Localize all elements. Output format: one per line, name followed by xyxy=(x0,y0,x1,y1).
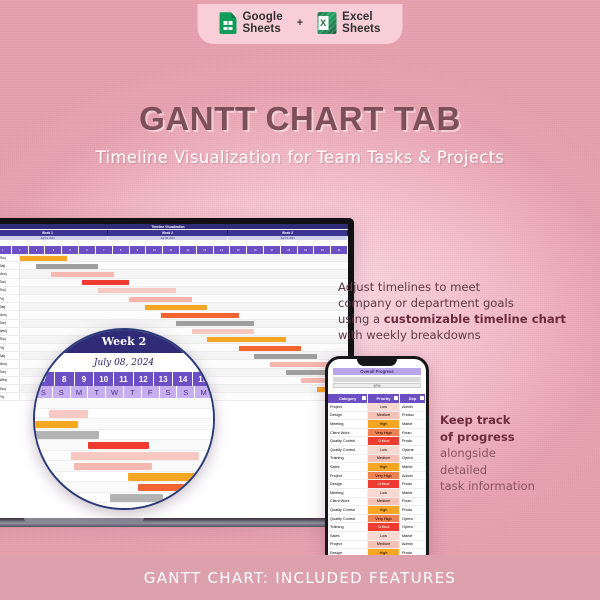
gantt-bar xyxy=(20,256,67,261)
phone-body: Overall Progress 67% CategoryPriorityDep… xyxy=(325,356,429,568)
magnifier-day-letters: SSMTWTFSSM xyxy=(35,386,213,398)
bottom-banner: GANTT CHART: INCLUDED FEATURES xyxy=(0,555,600,600)
phone-cell-priority: High xyxy=(368,506,400,514)
magnifier-date-label: July 08, 2024 xyxy=(35,353,213,372)
phone-cell-department: Finan xyxy=(400,429,426,437)
phone-table-row[interactable]: MeetingHighMarke xyxy=(328,420,426,429)
cell-task-due-date: 20/07/2024 (Sat) xyxy=(0,352,20,359)
callout-bold-phrase: customizable timeline chart xyxy=(384,312,566,326)
laptop-base xyxy=(0,518,367,527)
phone-table-row[interactable]: ProjectLowAdmin xyxy=(328,403,426,412)
table-row[interactable]: MediumOperationsOverdue40%09/07/2024 (Tu… xyxy=(0,303,348,311)
phone-cell-category: Sales xyxy=(328,463,368,471)
magnifier-gantt-bar xyxy=(71,452,199,460)
phone-table-row[interactable]: TrainingCriticalOpera xyxy=(328,523,426,532)
phone-cell-category: Sales xyxy=(328,532,368,540)
cell-task-due-date: 04/07/2024 (Thu) xyxy=(0,254,20,261)
phone-cell-priority: Low xyxy=(368,489,400,497)
cell-task-due-date: 23/07/2024 (Tue) xyxy=(0,369,20,376)
magnifier-day-letter: S xyxy=(35,386,53,398)
magnifier-day-letter: T xyxy=(88,386,106,398)
phone-table-row[interactable]: TrainingMediumOpera xyxy=(328,455,426,464)
cell-task-due-date: 26/07/2024 (Fri) xyxy=(0,393,20,400)
gantt-bar xyxy=(98,288,176,293)
cell-task-due-date: 12/07/2024 (Fri) xyxy=(0,295,20,302)
phone-cell-priority: Critical xyxy=(368,480,400,488)
phone-cell-department: Marke xyxy=(400,532,426,540)
phone-cell-priority: Critical xyxy=(368,523,400,531)
week-date-1: July 01, 2024 xyxy=(0,236,108,240)
magnifier-row xyxy=(35,472,213,483)
phone-cell-priority: Critical xyxy=(368,437,400,445)
magnifier-row xyxy=(35,398,213,409)
plus-separator: + xyxy=(297,17,303,29)
phone-cell-department: Finan xyxy=(400,498,426,506)
phone-cell-priority: Medium xyxy=(368,412,400,420)
phone-cell-department: Opera xyxy=(400,455,426,463)
table-row[interactable]: LowMarketingCanceled15%10/07/2024 (Wed)1… xyxy=(0,311,348,319)
phone-cell-priority: Medium xyxy=(368,498,400,506)
gantt-bar xyxy=(145,305,207,310)
phone-cell-department: Admin xyxy=(400,403,426,411)
google-sheets-label: GoogleSheets xyxy=(243,11,283,35)
magnifier-gantt-bar xyxy=(138,484,199,492)
day-number-cell: 4 xyxy=(45,246,62,254)
gantt-cell xyxy=(20,311,348,318)
table-row[interactable]: CriticalIn Review25%12/07/2024 (Fri)17/0… xyxy=(0,328,348,336)
gantt-bar xyxy=(82,280,129,285)
timeline-title: Timeline Visualization xyxy=(0,224,348,229)
table-row[interactable]: MediumAdminNot Started30%01/07/2024 (Mon… xyxy=(0,254,348,262)
magnifier-row xyxy=(35,430,213,441)
phone-cell-priority: Low xyxy=(368,532,400,540)
gantt-bar xyxy=(254,354,316,359)
magnifier-day-numbers: 789101112131415 xyxy=(35,372,213,386)
magnifier-day-letter: F xyxy=(142,386,160,398)
phone-cell-category: Training xyxy=(328,455,368,463)
phone-cell-category: Project xyxy=(328,403,368,411)
gantt-cell xyxy=(20,303,348,310)
magnifier-gantt-bar xyxy=(88,442,149,450)
phone-cell-department: Opera xyxy=(400,515,426,523)
phone-cell-department: Produ xyxy=(400,437,426,445)
phone-cell-department: Marke xyxy=(400,489,426,497)
day-number-cell: 16 xyxy=(247,246,264,254)
gantt-bar xyxy=(239,346,301,351)
phone-screen[interactable]: Overall Progress 67% CategoryPriorityDep… xyxy=(328,359,426,565)
magnifier-day-letter: S xyxy=(160,386,178,398)
phone-cell-category: Training xyxy=(328,523,368,531)
gantt-cell xyxy=(20,287,348,294)
day-number-cell: 5 xyxy=(62,246,79,254)
gantt-cell xyxy=(20,262,348,269)
table-row[interactable]: Very HighProductionCanceled60%06/07/2024… xyxy=(0,287,348,295)
magnifier-gantt-bar xyxy=(74,463,152,471)
cell-task-due-date: 19/07/2024 (Fri) xyxy=(0,344,20,351)
phone-cell-priority: Medium xyxy=(368,455,400,463)
gantt-cell xyxy=(20,295,348,302)
gantt-bar xyxy=(129,297,191,302)
phone-cell-category: Design xyxy=(328,412,368,420)
magnifier-day-number: 10 xyxy=(94,372,114,386)
magnifier-row xyxy=(35,419,213,430)
phone-cell-department: Produ xyxy=(400,506,426,514)
magnifier-callout: Week 2 July 08, 2024 789101112131415 SSM… xyxy=(33,328,215,510)
phone-cell-priority: High xyxy=(368,463,400,471)
phone-cell-department: Opera xyxy=(400,523,426,531)
day-number-cell: 19 xyxy=(298,246,315,254)
gantt-bar xyxy=(207,337,285,342)
magnifier-row xyxy=(35,482,213,493)
magnifier-day-number: 12 xyxy=(134,372,154,386)
phone-cell-priority: Very High xyxy=(368,515,400,523)
phone-cell-category: Quality Control xyxy=(328,515,368,523)
magnifier-day-letter: T xyxy=(124,386,142,398)
gantt-cell xyxy=(20,254,348,261)
magnifier-gantt-grid xyxy=(35,398,213,510)
phone-cell-category: Client Work xyxy=(328,498,368,506)
excel-icon: X xyxy=(317,12,336,34)
cell-task-due-date: 13/07/2024 (Sat) xyxy=(0,303,20,310)
page-subtitle: Timeline Visualization for Team Tasks & … xyxy=(0,148,600,167)
phone-column-header-category[interactable]: Category xyxy=(328,394,368,403)
overall-progress-bar xyxy=(333,377,421,382)
phone-notch xyxy=(357,359,397,366)
magnifier-gantt-bar xyxy=(35,431,99,439)
phone-table-row[interactable]: Quality ControlCriticalProdu xyxy=(328,437,426,446)
day-number-cell: 2 xyxy=(12,246,29,254)
day-number-cell: 1 xyxy=(0,246,12,254)
magnifier-row xyxy=(35,493,213,504)
phone-cell-category: Meeting xyxy=(328,489,368,497)
magnifier-gantt-bar xyxy=(110,494,163,502)
phone-cell-priority: Medium xyxy=(368,541,400,549)
phone-column-header-priority[interactable]: Priority xyxy=(368,394,400,403)
table-row[interactable]: HighProductionIn Progress80%02/07/2024 (… xyxy=(0,262,348,270)
day-number-cell: 15 xyxy=(230,246,247,254)
callout-text-timelines: Adjust timelines to meet company or depa… xyxy=(338,279,586,343)
cell-task-due-date: 16/07/2024 (Tue) xyxy=(0,320,20,327)
phone-cell-priority: Very High xyxy=(368,472,400,480)
magnifier-gantt-bar xyxy=(35,421,78,429)
magnifier-row xyxy=(35,409,213,420)
cell-task-due-date: 09/07/2024 (Tue) xyxy=(0,279,20,286)
day-number-cell: 12 xyxy=(180,246,197,254)
gantt-cell xyxy=(20,320,348,327)
week-date-3: July 15, 2024 xyxy=(228,236,348,240)
gantt-cell xyxy=(20,336,348,343)
google-sheets-badge: GoogleSheets xyxy=(220,11,283,35)
phone-cell-category: Quality Control xyxy=(328,437,368,445)
cell-task-due-date: 18/07/2024 (Thu) xyxy=(0,336,20,343)
week-date-2: July 08, 2024 xyxy=(108,236,228,240)
phone-table-row[interactable]: Quality ControlLowOperat xyxy=(328,446,426,455)
magnifier-gantt-bar xyxy=(128,473,206,481)
phone-cell-priority: Low xyxy=(368,446,400,454)
phone-table-row[interactable]: SalesHighMarke xyxy=(328,463,426,472)
day-number-cell: 17 xyxy=(264,246,281,254)
phone-cell-category: Meeting xyxy=(328,420,368,428)
gantt-cell xyxy=(20,279,348,286)
phone-cell-department: Marke xyxy=(400,463,426,471)
day-number-cell: 18 xyxy=(281,246,298,254)
day-number-cell: 14 xyxy=(214,246,231,254)
gantt-bar xyxy=(192,329,254,334)
day-number-cell: 7 xyxy=(96,246,113,254)
day-number-header: 123456789101112131415161718192021 xyxy=(0,246,348,254)
day-number-cell: 8 xyxy=(113,246,130,254)
day-number-cell: 9 xyxy=(130,246,147,254)
gantt-bar xyxy=(36,264,98,269)
phone-cell-category: Quality Control xyxy=(328,506,368,514)
magnifier-day-number: 14 xyxy=(173,372,193,386)
magnifier-row xyxy=(35,440,213,451)
excel-label: ExcelSheets xyxy=(342,11,380,35)
phone-cell-department: Marke xyxy=(400,420,426,428)
phone-cell-category: Design xyxy=(328,480,368,488)
week-date-row: July 01, 2024July 08, 2024July 15, 2024 xyxy=(0,236,348,240)
table-row[interactable]: CriticalMarketingOn Hold50%03/07/2024 (W… xyxy=(0,270,348,278)
magnifier-day-number: 11 xyxy=(114,372,134,386)
gantt-bar xyxy=(270,362,332,367)
magnifier-day-letter: M xyxy=(71,386,89,398)
gantt-bar xyxy=(176,321,254,326)
phone-cell-department: Admin xyxy=(400,541,426,549)
magnifier-day-letter: S xyxy=(53,386,71,398)
day-number-cell: 6 xyxy=(79,246,96,254)
cell-task-due-date: 24/07/2024 (Wed) xyxy=(0,377,20,384)
phone-cell-priority: Very High xyxy=(368,429,400,437)
phone-table-row[interactable]: SalesLowMarke xyxy=(328,532,426,541)
phone-cell-category: Project xyxy=(328,472,368,480)
phone-table-row[interactable]: Quality ControlHighProdu xyxy=(328,506,426,515)
google-sheets-icon xyxy=(220,12,237,34)
day-number-cell: 21 xyxy=(331,246,348,254)
phone-table-row[interactable]: Quality ControlVery HighOpera xyxy=(328,515,426,524)
phone-table-row[interactable]: ProjectMediumAdmin xyxy=(328,541,426,550)
sheet-toolbar: Chart Customization Begin Tasks: July 01… xyxy=(0,224,348,246)
cell-task-due-date: 25/07/2024 (Thu) xyxy=(0,385,20,392)
cell-task-due-date: 08/07/2024 (Mon) xyxy=(0,270,20,277)
gantt-bar xyxy=(161,313,239,318)
cell-task-due-date: 15/07/2024 (Mon) xyxy=(0,311,20,318)
phone-cell-department: Operat xyxy=(400,446,426,454)
cell-task-due-date: 17/07/2024 (Wed) xyxy=(0,328,20,335)
gantt-cell xyxy=(20,328,348,335)
magnifier-day-number: 8 xyxy=(55,372,75,386)
phone-cell-priority: High xyxy=(368,420,400,428)
callout-text-progress: Keep track of progress alongside detaile… xyxy=(440,412,590,495)
gantt-bar xyxy=(51,272,113,277)
phone-cell-department: Produ xyxy=(400,480,426,488)
phone-cell-department: Admin xyxy=(400,472,426,480)
cell-task-due-date: 06/07/2024 (Sat) xyxy=(0,262,20,269)
cell-task-due-date: 22/07/2024 (Mon) xyxy=(0,360,20,367)
phone-cell-category: Project xyxy=(328,541,368,549)
magnifier-day-letter: S xyxy=(177,386,195,398)
day-number-cell: 13 xyxy=(197,246,214,254)
cell-task-due-date: 11/07/2024 (Thu) xyxy=(0,287,20,294)
overall-progress-label: Overall Progress xyxy=(333,368,421,375)
phone-cell-category: Quality Control xyxy=(328,446,368,454)
magnifier-row xyxy=(35,461,213,472)
phone-column-headers: CategoryPriorityDep xyxy=(328,394,426,403)
phone-cell-priority: Low xyxy=(368,403,400,411)
magnifier-day-number: 13 xyxy=(154,372,174,386)
phone-table-row[interactable]: DesignCriticalProdu xyxy=(328,480,426,489)
day-number-cell: 11 xyxy=(163,246,180,254)
day-number-cell: 10 xyxy=(146,246,163,254)
overall-progress-value: 67% xyxy=(333,383,421,388)
timeline-panel: Timeline Visualization Week 1Week 2Week … xyxy=(0,224,348,246)
magnifier-gantt-bar xyxy=(49,410,88,418)
magnifier-row xyxy=(35,451,213,462)
phone-table-row[interactable]: Client WorkVery HighFinan xyxy=(328,429,426,438)
magnifier-day-letter: W xyxy=(106,386,124,398)
magnifier-day-number: 9 xyxy=(75,372,95,386)
phone-mockup: Overall Progress 67% CategoryPriorityDep… xyxy=(325,356,429,568)
page-title: GANTT CHART TAB xyxy=(0,100,600,138)
phone-column-header-dep[interactable]: Dep xyxy=(400,394,426,403)
gantt-cell xyxy=(20,270,348,277)
phone-table-row[interactable]: MeetingLowMarke xyxy=(328,489,426,498)
phone-table-row[interactable]: ProjectVery HighAdmin xyxy=(328,472,426,481)
compatibility-badges: GoogleSheets + X ExcelSheets xyxy=(198,4,403,44)
excel-badge: X ExcelSheets xyxy=(317,11,380,35)
day-number-cell: 3 xyxy=(29,246,46,254)
table-row[interactable]: LowFinanceActive20%05/07/2024 (Fri)09/07… xyxy=(0,279,348,287)
table-row[interactable]: HighOperationsCompleted100%08/07/2024 (M… xyxy=(0,295,348,303)
phone-cell-category: Client Work xyxy=(328,429,368,437)
phone-cell-department: Produc xyxy=(400,412,426,420)
phone-table-row[interactable]: DesignMediumProduc xyxy=(328,412,426,421)
phone-task-rows: ProjectLowAdminDesignMediumProducMeeting… xyxy=(328,403,426,565)
day-number-cell: 20 xyxy=(314,246,331,254)
phone-table-row[interactable]: Client WorkMediumFinan xyxy=(328,498,426,507)
table-row[interactable]: Very HighAdminNot Started0%11/07/2024 (T… xyxy=(0,320,348,328)
